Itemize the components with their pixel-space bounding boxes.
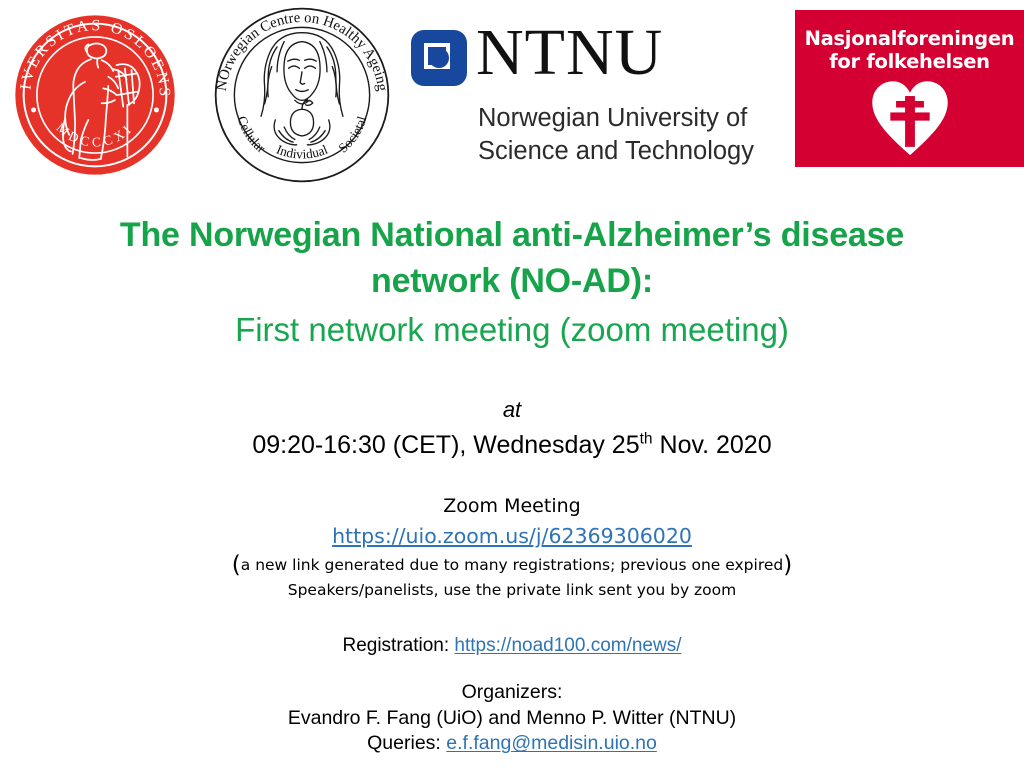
zoom-meeting-heading: Zoom Meeting bbox=[0, 494, 1024, 519]
date-tail: Nov. 2020 bbox=[653, 431, 772, 459]
day-suffix: th bbox=[640, 430, 653, 447]
page-title: The Norwegian National anti-Alzheimer’s … bbox=[0, 213, 1024, 352]
organizers-names: Evandro F. Fang (UiO) and Menno P. Witte… bbox=[0, 706, 1024, 732]
organizers-block: Organizers: Evandro F. Fang (UiO) and Me… bbox=[0, 680, 1024, 757]
ntnu-subtitle: Norwegian University of Science and Tech… bbox=[478, 102, 754, 167]
note-open-paren: ( bbox=[232, 552, 241, 578]
zoom-note-line2: Speakers/panelists, use the private link… bbox=[0, 580, 1024, 601]
ntnu-wordmark: NTNU bbox=[476, 20, 663, 86]
queries-line: Queries: e.f.fang@medisin.uio.no bbox=[0, 731, 1024, 757]
ntnu-logo: NTNU Norwegian University of Science and… bbox=[408, 24, 788, 172]
organizers-heading: Organizers: bbox=[0, 680, 1024, 706]
zoom-note-line1: (a new link generated due to many regist… bbox=[0, 555, 1024, 576]
svg-text:Cellular: Cellular bbox=[235, 114, 269, 156]
ntnu-mark-icon bbox=[411, 30, 467, 86]
nasjonalforeningen-text: Nasjonalforeningen for folkehelsen bbox=[795, 28, 1024, 73]
heart-cross-icon bbox=[869, 78, 951, 160]
registration-label: Registration: bbox=[342, 635, 454, 656]
svg-text:Individual: Individual bbox=[274, 142, 330, 162]
svg-text:Societal: Societal bbox=[335, 114, 369, 155]
title-main-line2: network (NO-AD): bbox=[0, 259, 1024, 305]
ntnu-subtitle-line1: Norwegian University of bbox=[478, 102, 754, 135]
nasjonalforeningen-logo: Nasjonalforeningen for folkehelsen bbox=[795, 10, 1024, 167]
time-range: 09:20-16:30 (CET), Wednesday 25 bbox=[252, 431, 639, 459]
svg-text:NOrwegian Centre on Healthy Ag: NOrwegian Centre on Healthy Ageing bbox=[214, 10, 391, 93]
title-main-line1: The Norwegian National anti-Alzheimer’s … bbox=[0, 213, 1024, 259]
note-close-paren: ) bbox=[783, 552, 792, 578]
logo-bar: UNIVERSITAS OSLOENSIS MDCCCXI bbox=[0, 0, 1024, 180]
zoom-meeting-block: Zoom Meeting https://uio.zoom.us/j/62369… bbox=[0, 494, 1024, 601]
ntnu-subtitle-line2: Science and Technology bbox=[478, 135, 754, 168]
no-age-logo: NOrwegian Centre on Healthy Ageing Cellu… bbox=[213, 6, 391, 184]
note-text: a new link generated due to many registr… bbox=[241, 556, 783, 574]
title-subtitle: First network meeting (zoom meeting) bbox=[0, 309, 1024, 352]
uio-seal-logo: UNIVERSITAS OSLOENSIS MDCCCXI bbox=[12, 12, 178, 178]
zoom-meeting-link[interactable]: https://uio.zoom.us/j/62369306020 bbox=[0, 523, 1024, 550]
registration-link[interactable]: https://noad100.com/news/ bbox=[454, 635, 681, 656]
nasjonalforeningen-line2: for folkehelsen bbox=[795, 51, 1024, 74]
event-datetime: at 09:20-16:30 (CET), Wednesday 25th Nov… bbox=[0, 396, 1024, 461]
date-line: 09:20-16:30 (CET), Wednesday 25th Nov. 2… bbox=[0, 429, 1024, 462]
registration-line: Registration: https://noad100.com/news/ bbox=[0, 634, 1024, 659]
at-label: at bbox=[0, 396, 1024, 424]
queries-email-link[interactable]: e.f.fang@medisin.uio.no bbox=[446, 732, 657, 754]
nasjonalforeningen-line1: Nasjonalforeningen bbox=[795, 28, 1024, 51]
queries-label: Queries: bbox=[367, 732, 446, 754]
